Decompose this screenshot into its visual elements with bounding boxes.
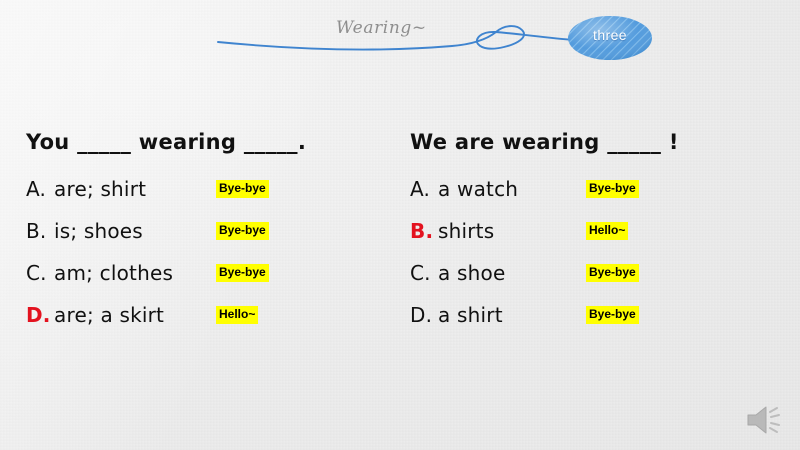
ellipse-badge-shape (568, 16, 652, 60)
option-feedback-tag-a: Bye-bye (586, 180, 639, 198)
option-feedback-tag-d: Bye-bye (586, 306, 639, 324)
decoration-script-title: Wearing~ (336, 18, 427, 38)
option-letter-b: B. (410, 210, 438, 252)
ellipse-badge-shading (568, 16, 652, 60)
option-feedback-tag-b: Bye-bye (216, 222, 269, 240)
option-text-d: are; a skirt (54, 303, 164, 327)
option-row-a[interactable]: A.a watch Bye-bye (410, 168, 780, 210)
option-letter-a: A. (410, 168, 438, 210)
option-row-d[interactable]: D.are; a skirt Hello~ (26, 294, 386, 336)
option-row-c[interactable]: C.am; clothes Bye-bye (26, 252, 386, 294)
option-feedback-tag-c: Bye-bye (216, 264, 269, 282)
option-letter-d: D. (410, 294, 438, 336)
option-feedback-tag-d: Hello~ (216, 306, 258, 324)
option-letter-c: C. (410, 252, 438, 294)
option-letter-a: A. (26, 168, 54, 210)
option-row-b[interactable]: B.shirts Hello~ (410, 210, 780, 252)
option-text-b: is; shoes (54, 219, 143, 243)
option-feedback-tag-b: Hello~ (586, 222, 628, 240)
option-row-d[interactable]: D.a shirt Bye-bye (410, 294, 780, 336)
option-text-d: a shirt (438, 303, 503, 327)
option-list-right: A.a watch Bye-bye B.shirts Hello~ C.a sh… (410, 168, 780, 336)
question-stem-left: You _____ wearing _____. (26, 128, 386, 156)
option-text-a: are; shirt (54, 177, 146, 201)
option-feedback-tag-c: Bye-bye (586, 264, 639, 282)
option-row-c[interactable]: C.a shoe Bye-bye (410, 252, 780, 294)
option-row-b[interactable]: B.is; shoes Bye-bye (26, 210, 386, 252)
option-list-left: A.are; shirt Bye-bye B.is; shoes Bye-bye… (26, 168, 386, 336)
option-letter-c: C. (26, 252, 54, 294)
option-text-c: am; clothes (54, 261, 173, 285)
option-text-c: a shoe (438, 261, 505, 285)
speaker-icon-svg (744, 400, 788, 440)
header-swoosh-svg (0, 0, 800, 80)
option-text-a: a watch (438, 177, 518, 201)
question-block-left: You _____ wearing _____. A.are; shirt By… (26, 128, 386, 336)
header-decoration: Wearing~ three (0, 0, 800, 80)
option-text-b: shirts (438, 219, 494, 243)
question-stem-right: We are wearing _____ ! (410, 128, 780, 156)
option-letter-b: B. (26, 210, 54, 252)
swoosh-curve-path (218, 26, 574, 49)
slide-canvas: Wearing~ three You _____ wearing _____. … (0, 0, 800, 450)
question-block-right: We are wearing _____ ! A.a watch Bye-bye… (410, 128, 780, 336)
speaker-icon[interactable] (744, 400, 788, 440)
ellipse-badge-label: three (560, 27, 660, 43)
option-feedback-tag-a: Bye-bye (216, 180, 269, 198)
option-letter-d: D. (26, 294, 54, 336)
option-row-a[interactable]: A.are; shirt Bye-bye (26, 168, 386, 210)
